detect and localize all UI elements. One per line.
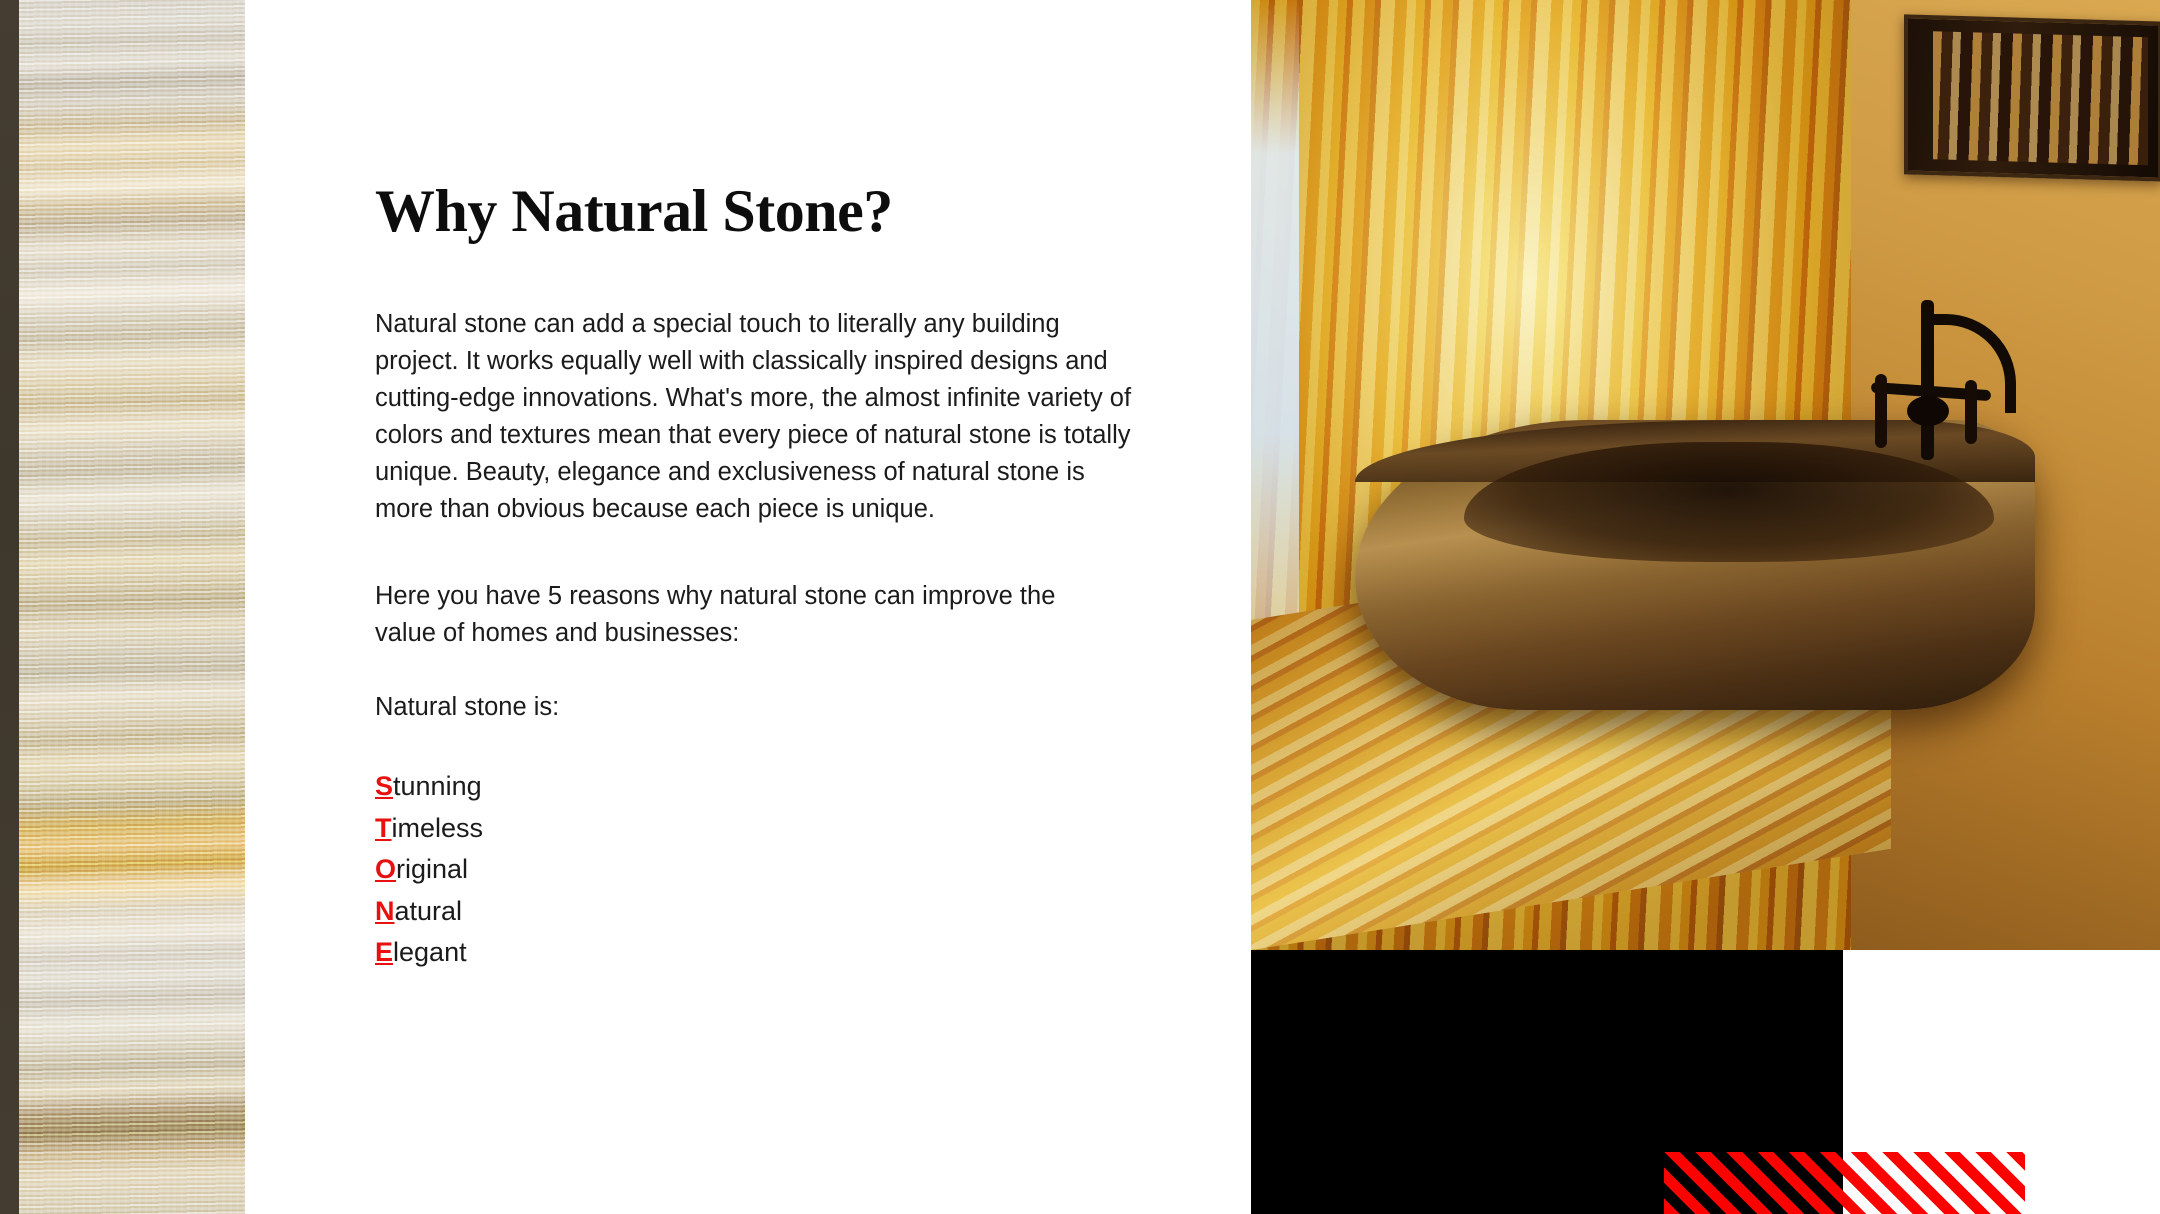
daylight-gap (1251, 0, 1299, 700)
list-item: Elegant (375, 932, 1150, 974)
reasons-paragraph: Here you have 5 reasons why natural ston… (375, 578, 1115, 652)
acrostic-rest: tunning (393, 771, 482, 801)
acrostic-initial: E (375, 937, 393, 967)
acrostic-initial: S (375, 771, 393, 801)
niche-onyx-panel (1933, 31, 2148, 165)
acrostic-rest: riginal (396, 854, 468, 884)
backlit-onyx-bathroom-photo (1251, 0, 2160, 950)
list-item: Stunning (375, 766, 1150, 808)
acrostic-list: Stunning Timeless Original Natural Elega… (375, 766, 1150, 974)
list-item: Timeless (375, 808, 1150, 850)
faucet-icon (1861, 300, 2011, 510)
body-copy: Natural stone can add a special touch to… (375, 306, 1150, 974)
onyx-texture-fill (19, 0, 245, 1214)
leadin-paragraph: Natural stone is: (375, 689, 1150, 726)
list-item: Original (375, 849, 1150, 891)
framed-wall-niche (1904, 14, 2160, 181)
strip-dark-edge-band (0, 0, 19, 1214)
list-item: Natural (375, 891, 1150, 933)
left-stone-texture-strip (0, 0, 245, 1214)
acrostic-rest: imeless (392, 813, 484, 843)
faucet-knob (1907, 396, 1949, 426)
intro-paragraph: Natural stone can add a special touch to… (375, 306, 1145, 528)
acrostic-initial: N (375, 896, 395, 926)
acrostic-initial: O (375, 854, 396, 884)
red-diagonal-stripe-rectangle (1664, 1152, 2025, 1214)
text-content-column: Why Natural Stone? Natural stone can add… (375, 0, 1175, 1214)
faucet-handle-left (1875, 374, 1887, 448)
page-title: Why Natural Stone? (375, 180, 893, 243)
acrostic-initial: T (375, 813, 392, 843)
faucet-handle-right (1965, 380, 1977, 444)
acrostic-rest: legant (393, 937, 467, 967)
acrostic-rest: atural (395, 896, 463, 926)
